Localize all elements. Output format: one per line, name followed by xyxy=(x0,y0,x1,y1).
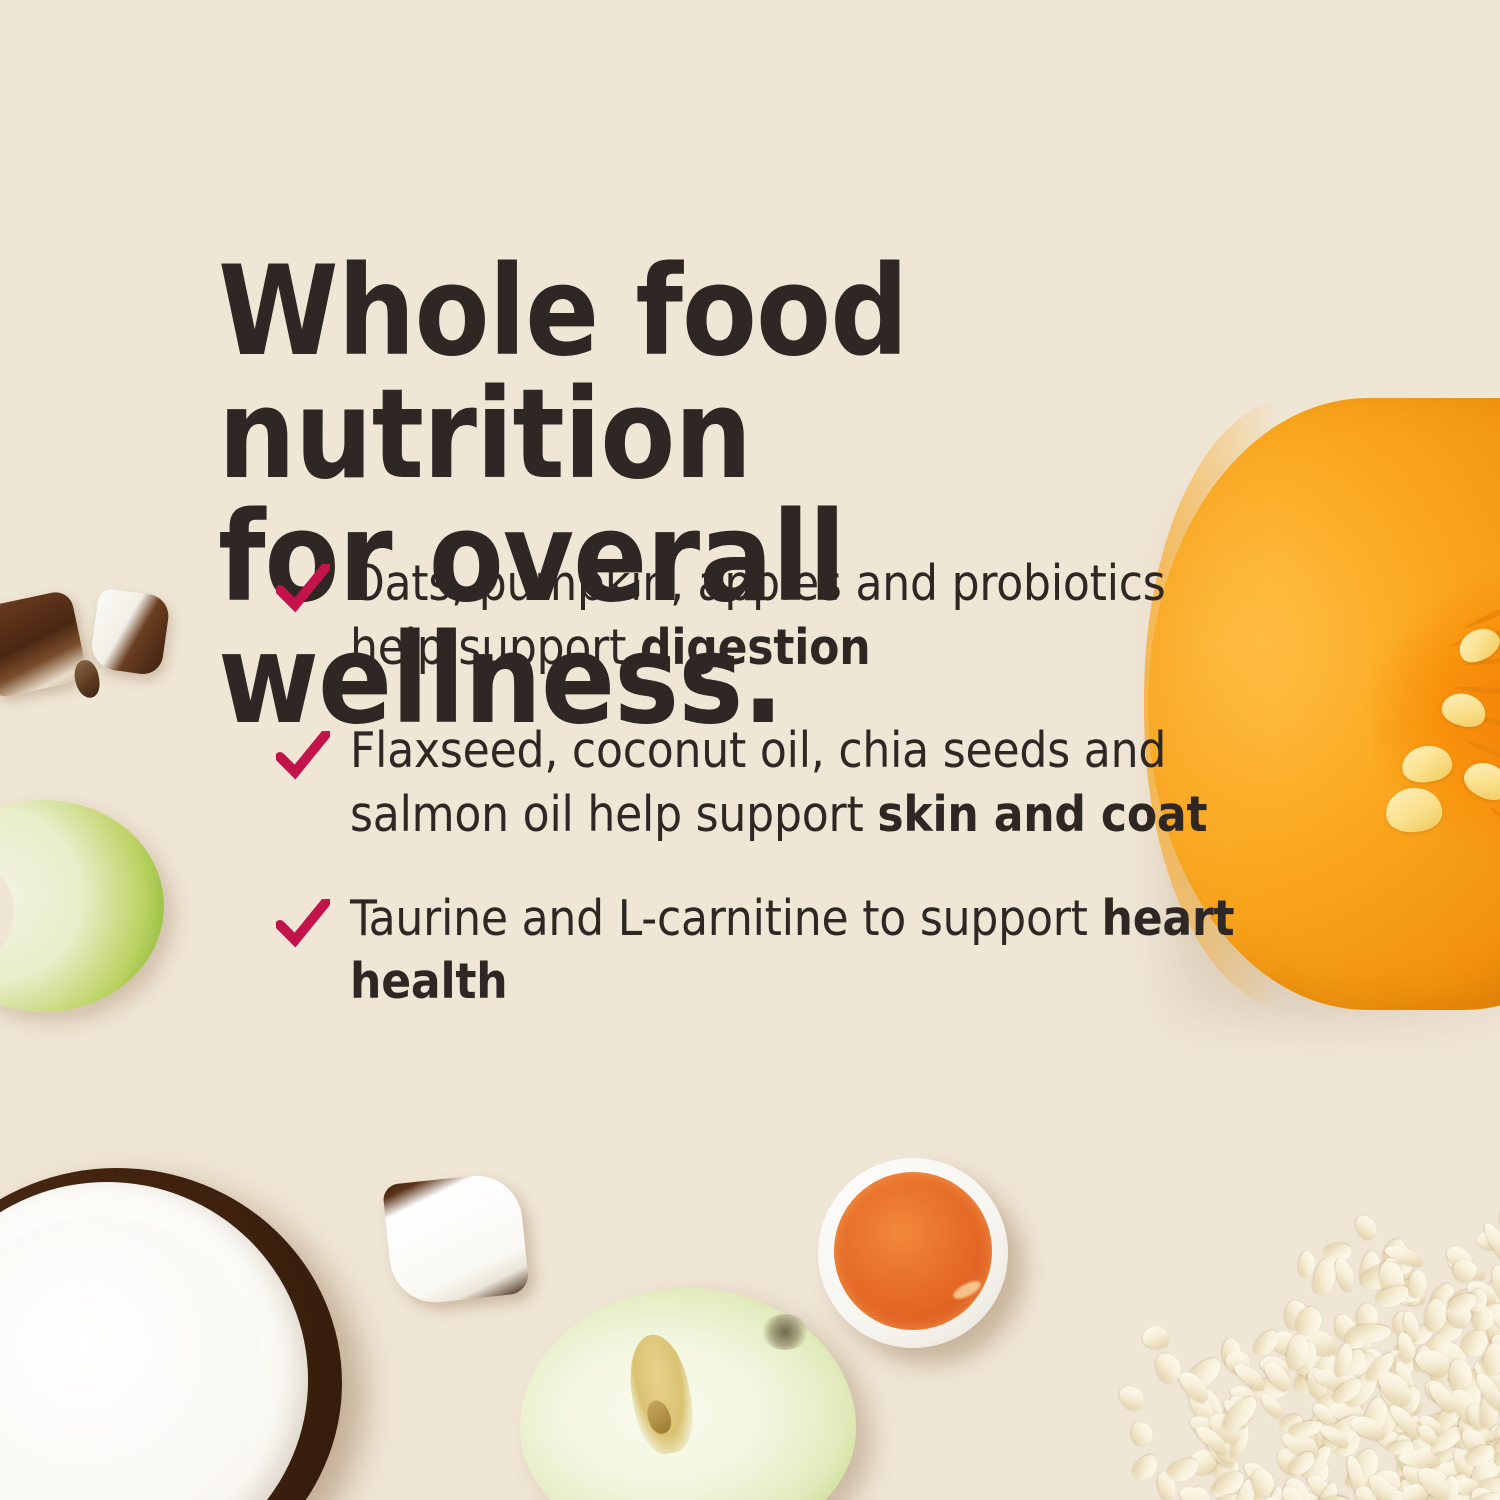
oat-flake xyxy=(1349,1325,1391,1343)
check-icon xyxy=(276,731,330,781)
benefit-emphasis: digestion xyxy=(640,619,870,676)
oat-flake xyxy=(1333,1257,1358,1294)
oat-flake xyxy=(1353,1212,1380,1242)
apple-slice-flesh xyxy=(0,800,164,1012)
oat-flake xyxy=(1130,1420,1154,1446)
check-icon xyxy=(276,899,330,949)
oat-flake xyxy=(1449,1359,1473,1392)
rolled-oats-image xyxy=(1110,1120,1500,1500)
oat-flake xyxy=(1116,1381,1149,1414)
benefit-emphasis: skin and coat xyxy=(877,786,1207,843)
apple-slice-image xyxy=(0,800,164,1012)
coconut-crumb-image xyxy=(72,659,101,700)
benefit-text: Taurine and L-carnitine to support xyxy=(350,890,1102,947)
coconut-piece-image xyxy=(382,1171,530,1307)
coconut-half-image xyxy=(0,1168,342,1500)
list-item: Taurine and L-carnitine to support heart… xyxy=(276,887,1236,1014)
list-item: Oats, pumpkin, apples and probiotics hel… xyxy=(276,552,1236,679)
oat-flake xyxy=(1142,1324,1171,1350)
check-icon xyxy=(276,564,330,614)
coconut-chunk-secondary-image xyxy=(89,587,171,676)
oil-surface xyxy=(834,1172,992,1330)
apple-stem-well xyxy=(762,1314,808,1350)
benefits-list: Oats, pumpkin, apples and probiotics hel… xyxy=(276,552,1236,1014)
list-item: Flaxseed, coconut oil, chia seeds and sa… xyxy=(276,719,1236,846)
promo-poster: Whole food nutrition for overall wellnes… xyxy=(0,0,1500,1500)
oat-flake xyxy=(1297,1250,1317,1278)
salmon-oil-bowl-image xyxy=(818,1158,1008,1348)
apple-half-image xyxy=(520,1288,856,1500)
